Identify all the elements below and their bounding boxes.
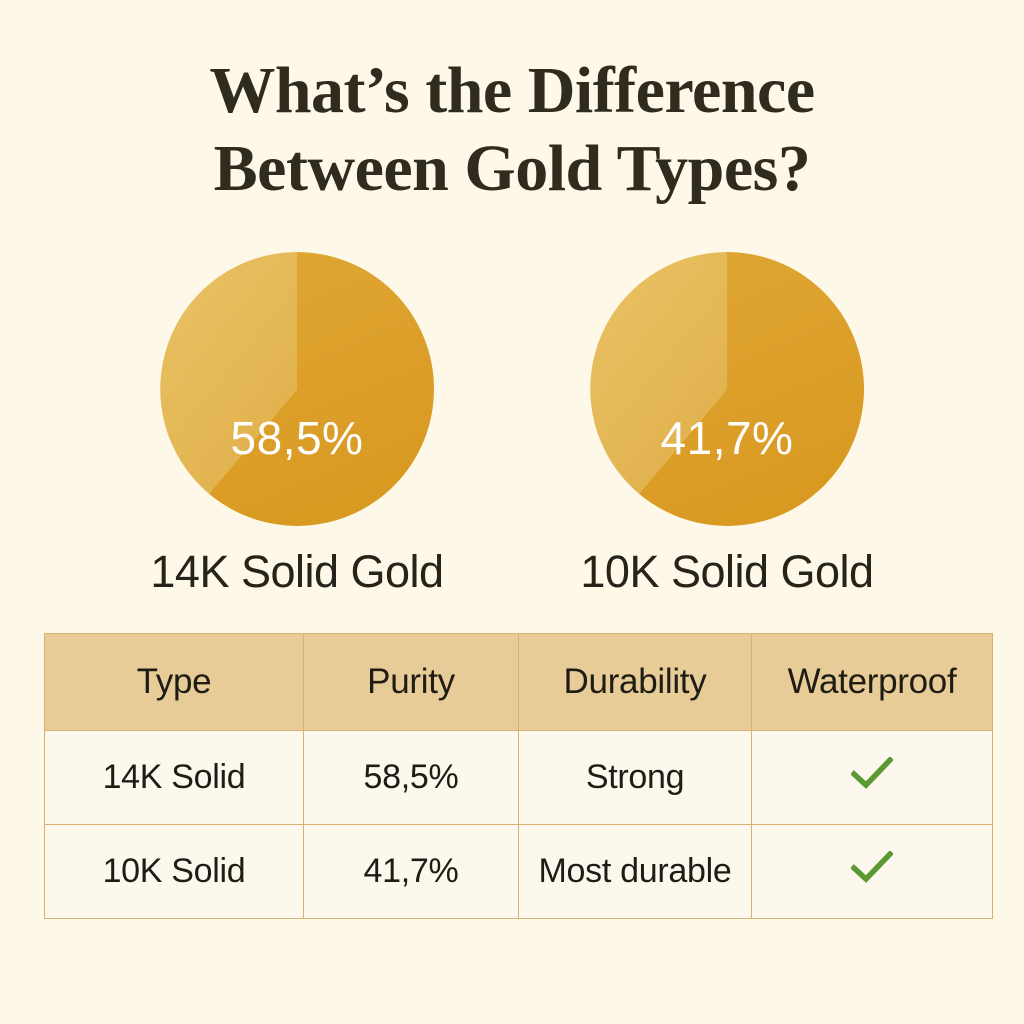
check-icon [851, 851, 893, 883]
cell-waterproof [752, 731, 993, 825]
cell-purity: 41,7% [304, 825, 519, 919]
table-header-durability: Durability [519, 634, 752, 731]
table-header: Type Purity Durability Waterproof [45, 634, 993, 731]
pie-chart-10k-svg [590, 252, 864, 526]
cell-purity: 58,5% [304, 731, 519, 825]
pie-chart-14k-value: 58,5% [160, 411, 434, 465]
page-title-line-2: Between Gold Types? [0, 130, 1024, 208]
cell-type: 14K Solid [45, 731, 304, 825]
cell-type: 10K Solid [45, 825, 304, 919]
cell-durability: Most durable [519, 825, 752, 919]
cell-waterproof [752, 825, 993, 919]
pie-chart-14k [160, 252, 434, 526]
pie-chart-14k-caption: 14K Solid Gold [67, 546, 527, 598]
gold-comparison-table: Type Purity Durability Waterproof 14K So… [44, 633, 993, 919]
table-row: 10K Solid 41,7% Most durable [45, 825, 993, 919]
table-header-row: Type Purity Durability Waterproof [45, 634, 993, 731]
pie-chart-10k [590, 252, 864, 526]
table-row: 14K Solid 58,5% Strong [45, 731, 993, 825]
table-header-waterproof: Waterproof [752, 634, 993, 731]
page-title: What’s the Difference Between Gold Types… [0, 52, 1024, 208]
pie-chart-10k-value: 41,7% [590, 411, 864, 465]
page-title-line-1: What’s the Difference [0, 52, 1024, 130]
gold-types-infographic: What’s the Difference Between Gold Types… [0, 0, 1024, 1024]
check-icon [851, 757, 893, 789]
table-header-type: Type [45, 634, 304, 731]
table-header-purity: Purity [304, 634, 519, 731]
pie-chart-10k-caption: 10K Solid Gold [497, 546, 957, 598]
cell-durability: Strong [519, 731, 752, 825]
table-body: 14K Solid 58,5% Strong 10K Solid 41,7% M… [45, 731, 993, 919]
pie-chart-14k-svg [160, 252, 434, 526]
